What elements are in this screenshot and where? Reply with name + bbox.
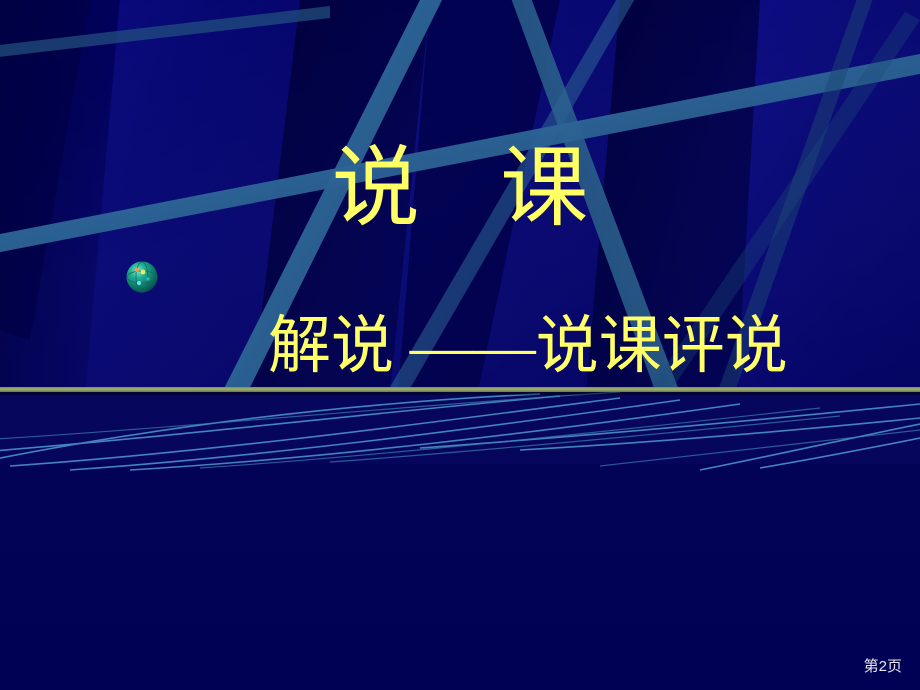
divider-line-shadow [0,392,920,395]
page-number: 第2页 [864,655,902,676]
slide-title: 说 课 [0,144,920,232]
presentation-slide: 说 课 解说 ——说课评说 第2页 [0,0,920,690]
globe-icon-svg [126,261,158,293]
globe-icon [126,261,158,293]
slide-subtitle: 解说 ——说课评说 [268,300,908,393]
